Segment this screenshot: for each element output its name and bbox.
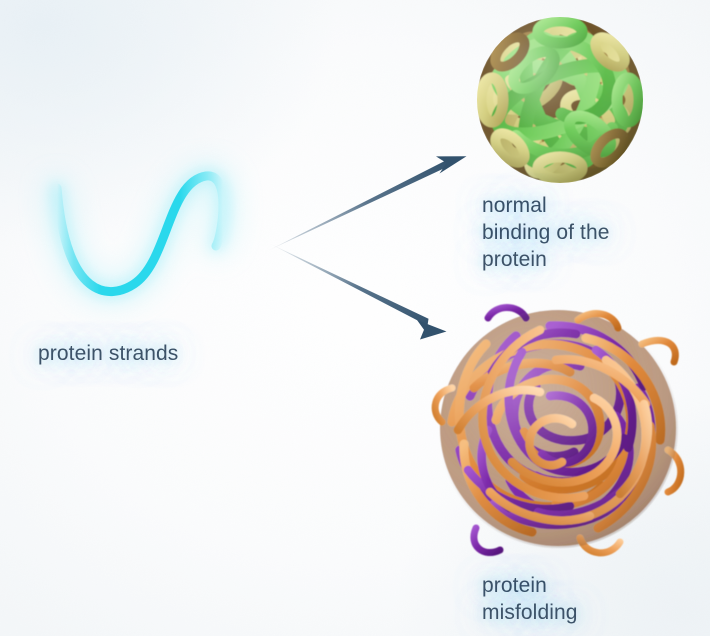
misfolded-protein-tangle[interactable] xyxy=(430,300,690,560)
label-normal-binding: normal binding of the protein xyxy=(482,192,610,273)
arrow-shaft xyxy=(266,160,448,252)
ball-loops xyxy=(477,17,643,183)
folded-protein-ball[interactable] xyxy=(470,10,650,190)
tangle-threads xyxy=(435,308,681,553)
arrow-to-normal-binding[interactable] xyxy=(266,156,467,251)
arrow-to-misfolding[interactable] xyxy=(268,243,447,340)
label-protein-strands: protein strands xyxy=(38,340,178,367)
protein-folding-diagram: protein strands normal binding of the pr… xyxy=(0,0,710,636)
label-protein-misfolding: protein misfolding xyxy=(482,572,578,626)
arrow-shaft xyxy=(268,243,429,326)
